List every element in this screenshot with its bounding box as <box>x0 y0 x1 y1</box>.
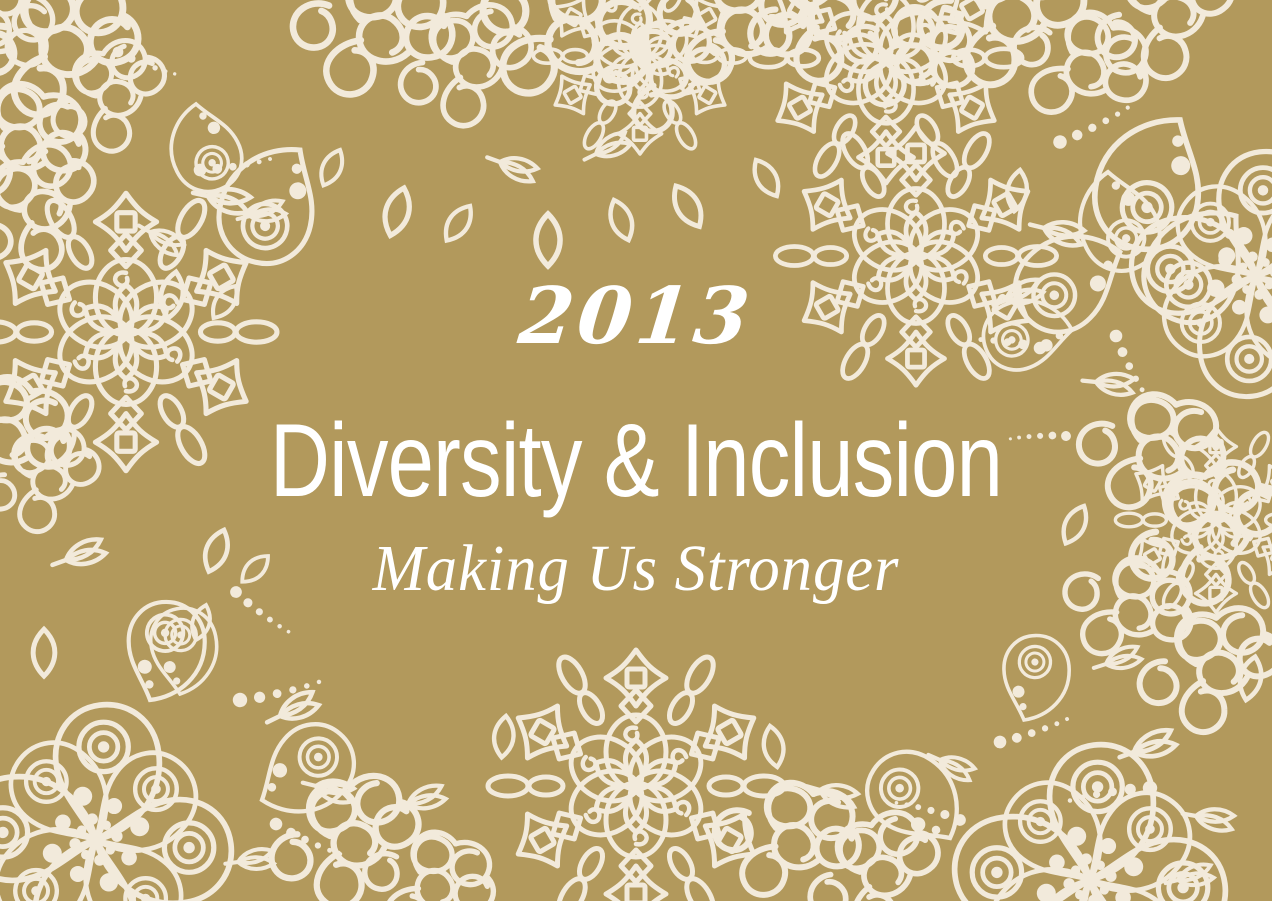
poster-year: 2013 <box>0 278 1272 356</box>
page-title: Diversity & Inclusion <box>127 408 1145 514</box>
poster-subtitle: Making Us Stronger <box>32 534 1240 603</box>
poster-canvas: 2013 Diversity & Inclusion Making Us Str… <box>0 0 1272 901</box>
poster-text-block: 2013 Diversity & Inclusion Making Us Str… <box>0 0 1272 901</box>
